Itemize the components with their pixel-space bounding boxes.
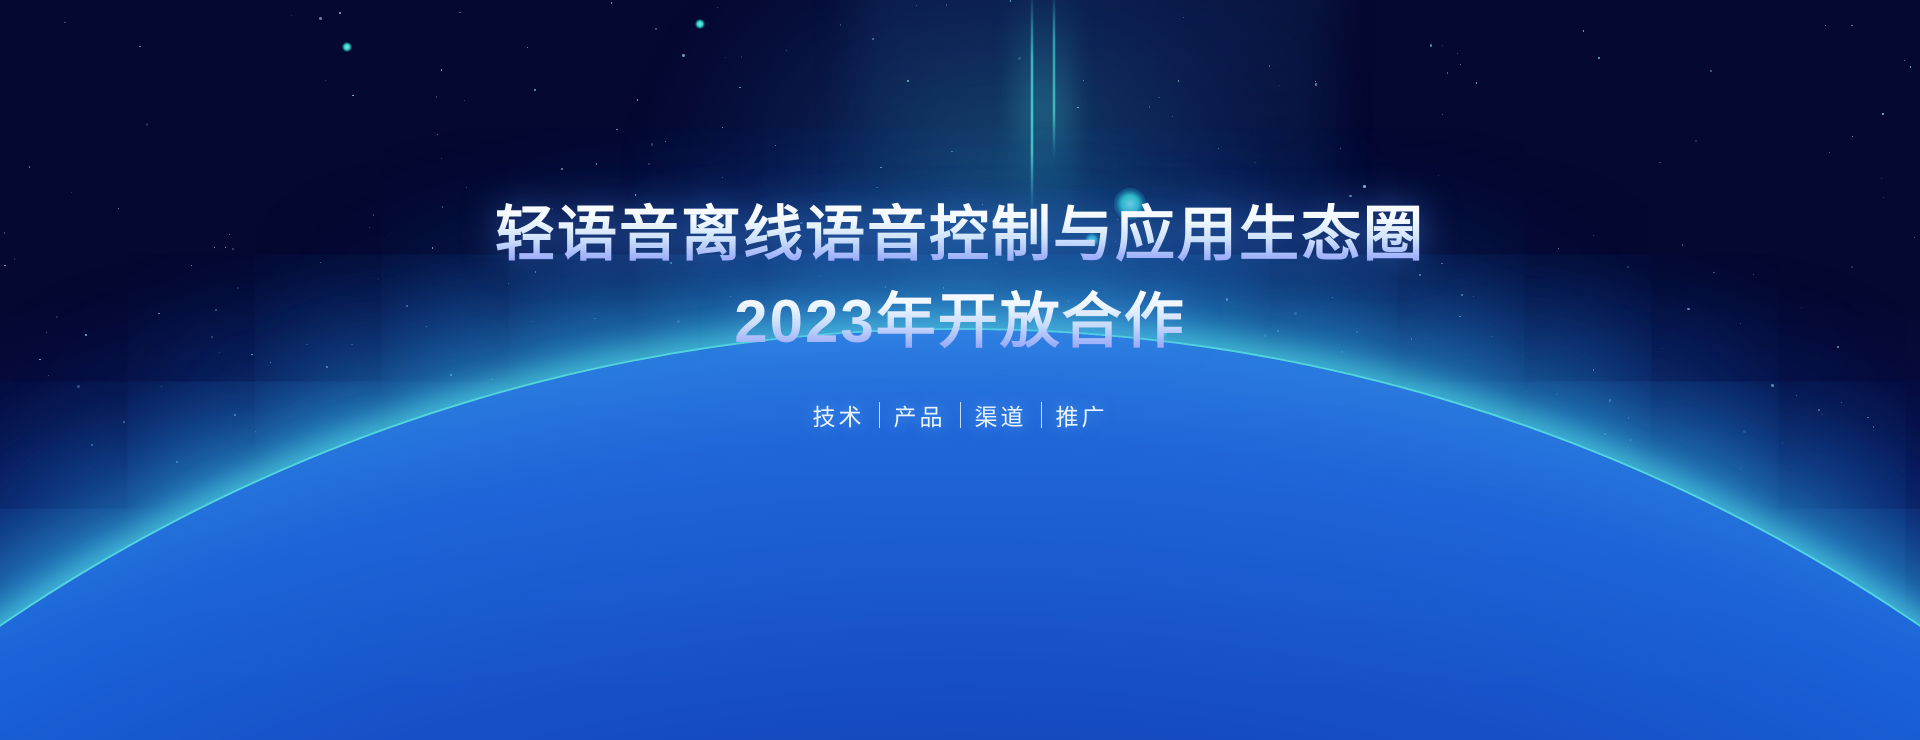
headline-line-1: 轻语音离线语音控制与应用生态圈 [495, 198, 1425, 271]
tagline-row: 技术产品渠道推广 [799, 398, 1122, 432]
headline-line-2: 2023年开放合作 [734, 285, 1185, 358]
tagline-item: 产品 [880, 398, 960, 432]
tagline-item: 推广 [1042, 398, 1122, 432]
tagline-item: 渠道 [961, 398, 1041, 432]
banner-content: 轻语音离线语音控制与应用生态圈 2023年开放合作 技术产品渠道推广 [0, 0, 1920, 740]
tagline-item: 技术 [799, 398, 879, 432]
hero-banner: 轻语音离线语音控制与应用生态圈 2023年开放合作 技术产品渠道推广 [0, 0, 1920, 740]
